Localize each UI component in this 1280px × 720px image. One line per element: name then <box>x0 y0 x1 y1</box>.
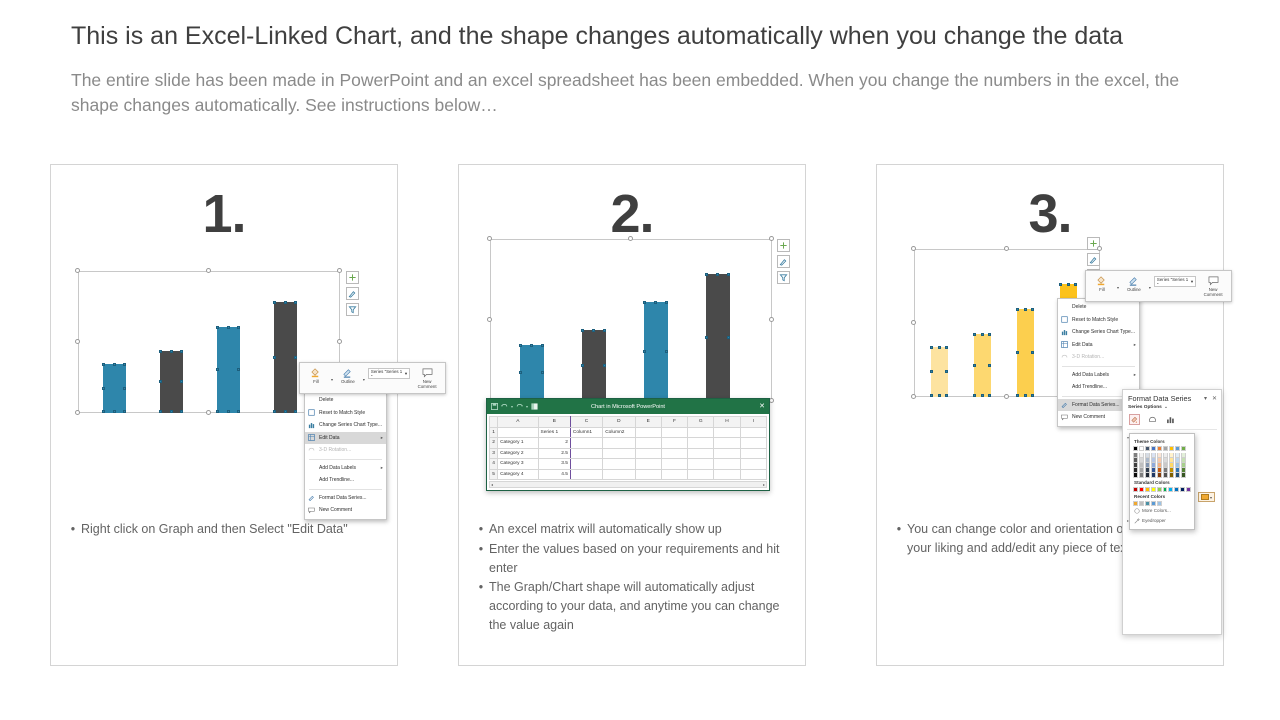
select-all-corner[interactable] <box>490 417 498 428</box>
chart-styles-icon[interactable] <box>777 255 790 268</box>
resize-handle[interactable] <box>206 268 211 273</box>
standard-color-swatch[interactable] <box>1180 487 1185 492</box>
table-row[interactable]: 1Series 1Column1Column2 <box>490 427 767 438</box>
bar-handle[interactable] <box>988 333 991 336</box>
bar-handle[interactable] <box>216 410 219 413</box>
bar-handle[interactable] <box>665 301 668 304</box>
bar-handle[interactable] <box>581 329 584 332</box>
cell-G5[interactable] <box>688 469 714 480</box>
cell-C2[interactable] <box>570 438 602 449</box>
bar-handle[interactable] <box>1067 283 1070 286</box>
resize-handle[interactable] <box>75 339 80 344</box>
bar-handle[interactable] <box>988 364 991 367</box>
series-options-dropdown[interactable]: Series Options ⌄ <box>1123 405 1221 412</box>
table-row[interactable]: 2Category 12 <box>490 438 767 449</box>
undo-icon[interactable] <box>501 403 508 410</box>
column-header-D[interactable]: D <box>603 417 635 428</box>
theme-color-column-2[interactable] <box>1139 446 1144 478</box>
bar-handle[interactable] <box>981 333 984 336</box>
bar-2[interactable] <box>582 330 606 401</box>
resize-handle[interactable] <box>487 236 492 241</box>
save-icon[interactable] <box>491 403 498 410</box>
outline-chevron-icon[interactable]: ▾ <box>363 377 365 382</box>
cell-H2[interactable] <box>714 438 740 449</box>
bar-handle[interactable] <box>603 329 606 332</box>
cell-B2[interactable]: 2 <box>538 438 570 449</box>
standard-color-swatch[interactable] <box>1133 487 1138 492</box>
resize-handle[interactable] <box>769 317 774 322</box>
standard-color-swatch[interactable] <box>1168 487 1173 492</box>
menu-item-new-comment[interactable]: New Comment <box>305 504 386 517</box>
menu-item-add-trendline[interactable]: Add Trendline... <box>305 474 386 487</box>
resize-handle[interactable] <box>75 268 80 273</box>
resize-handle[interactable] <box>206 410 211 415</box>
bar-handle[interactable] <box>938 346 941 349</box>
cell-H3[interactable] <box>714 448 740 459</box>
recent-color-swatch[interactable] <box>1133 501 1138 506</box>
close-icon[interactable]: ✕ <box>1212 395 1217 402</box>
format-pane-title: Format Data Series <box>1128 394 1191 403</box>
column-header-H[interactable]: H <box>714 417 740 428</box>
cell-I1[interactable] <box>740 427 766 438</box>
theme-color-swatch[interactable] <box>1151 446 1156 451</box>
cell-B5[interactable]: 4.5 <box>538 469 570 480</box>
bar-handle[interactable] <box>170 350 173 353</box>
bar-handle[interactable] <box>227 326 230 329</box>
fill-and-line-icon[interactable] <box>1129 414 1140 425</box>
undo-caret-icon[interactable]: ▾ <box>511 404 513 409</box>
cell-B3[interactable]: 2.5 <box>538 448 570 459</box>
cell-F1[interactable] <box>661 427 687 438</box>
pin-icon[interactable]: ▾ <box>1204 395 1207 402</box>
bar-handle[interactable] <box>519 344 522 347</box>
bar-handle[interactable] <box>665 350 668 353</box>
bar-handle[interactable] <box>727 336 730 339</box>
standard-colors-row[interactable] <box>1133 487 1191 492</box>
resize-handle[interactable] <box>337 268 342 273</box>
bar-handle[interactable] <box>530 344 533 347</box>
theme-shade-swatch[interactable] <box>1163 473 1168 478</box>
cell-H1[interactable] <box>714 427 740 438</box>
chevron-down-icon[interactable]: ▾ <box>405 371 407 377</box>
column-header-B[interactable]: B <box>538 417 570 428</box>
bar-handle[interactable] <box>123 363 126 366</box>
new-comment-button[interactable]: New Comment <box>1199 274 1227 298</box>
scroll-left-icon[interactable]: ◂ <box>491 482 493 487</box>
cell-A3[interactable]: Category 2 <box>498 448 538 459</box>
new-comment-button[interactable]: New Comment <box>413 366 441 390</box>
series-selector-combo[interactable]: Series "Series 1 " ▾ <box>368 368 410 379</box>
cell-D2[interactable] <box>603 438 635 449</box>
fill-button[interactable]: Fill <box>1090 274 1114 292</box>
close-icon[interactable]: ✕ <box>759 403 765 410</box>
bar-handle[interactable] <box>123 410 126 413</box>
cell-A1[interactable] <box>498 427 538 438</box>
bar-handle[interactable] <box>603 364 606 367</box>
bar-handle[interactable] <box>643 301 646 304</box>
resize-handle[interactable] <box>1097 246 1102 251</box>
cell-B4[interactable]: 3.5 <box>538 459 570 470</box>
menu-item-change-series-chart-type[interactable]: Change Series Chart Type... <box>305 419 386 432</box>
cell-I5[interactable] <box>740 469 766 480</box>
cell-I4[interactable] <box>740 459 766 470</box>
bar-handle[interactable] <box>592 329 595 332</box>
bar-handle[interactable] <box>180 410 183 413</box>
resize-handle[interactable] <box>487 317 492 322</box>
column-header-F[interactable]: F <box>661 417 687 428</box>
bar-handle[interactable] <box>973 394 976 397</box>
theme-color-column-3[interactable] <box>1145 446 1150 478</box>
chart-side-buttons-1[interactable] <box>346 271 359 316</box>
bar-handle[interactable] <box>643 350 646 353</box>
menu-item-delete[interactable]: Delete <box>1058 301 1139 314</box>
theme-color-swatch[interactable] <box>1133 446 1138 451</box>
table-row[interactable]: 4Category 33.5 <box>490 459 767 470</box>
outline-chevron-icon[interactable]: ▾ <box>1149 285 1151 290</box>
context-menu-1[interactable]: Delete Reset to Match Style Change Serie… <box>304 391 387 520</box>
bar-handle[interactable] <box>237 368 240 371</box>
excel-quick-access-toolbar[interactable]: ▾ ▾ <box>491 403 538 410</box>
menu-item-reset-to-match-style[interactable]: Reset to Match Style <box>305 407 386 420</box>
menu-item-3-d-rotation: 3-D Rotation... <box>1058 351 1139 364</box>
bar-handle[interactable] <box>113 363 116 366</box>
table-row[interactable]: 3Category 22.5 <box>490 448 767 459</box>
chart-elements-icon[interactable] <box>777 239 790 252</box>
step-panel-2: 2. ▾ ▾ <box>458 164 806 666</box>
color-picker-button[interactable]: ▾ <box>1198 492 1215 502</box>
menu-separator <box>309 489 382 490</box>
format-pane-tabs[interactable] <box>1123 412 1221 429</box>
row-header-5[interactable]: 5 <box>490 469 498 480</box>
bar-handle[interactable] <box>705 273 708 276</box>
bar-3[interactable] <box>1017 309 1034 397</box>
bar-handle[interactable] <box>159 380 162 383</box>
chart-selection-2[interactable] <box>490 239 772 401</box>
bar-handle[interactable] <box>113 410 116 413</box>
bar-1[interactable] <box>931 347 948 397</box>
cell-A2[interactable]: Category 1 <box>498 438 538 449</box>
column-header-G[interactable]: G <box>688 417 714 428</box>
bar-handle[interactable] <box>237 326 240 329</box>
more-colors-item[interactable]: More Colors... <box>1133 506 1191 516</box>
cell-D4[interactable] <box>603 459 635 470</box>
theme-color-swatch[interactable] <box>1139 446 1144 451</box>
bar-handle[interactable] <box>284 410 287 413</box>
theme-shade-swatch[interactable] <box>1139 473 1144 478</box>
theme-color-swatch[interactable] <box>1181 446 1186 451</box>
excel-title-bar[interactable]: ▾ ▾ Chart in Microsoft PowerPoint ✕ <box>487 399 769 414</box>
resize-handle[interactable] <box>75 410 80 415</box>
edit-data-icon <box>1061 341 1072 348</box>
bar-handle[interactable] <box>973 364 976 367</box>
theme-shade-swatch[interactable] <box>1181 473 1186 478</box>
column-header-A[interactable]: A <box>498 417 538 428</box>
excel-app-icon[interactable] <box>531 403 538 410</box>
menu-item-format-data-series[interactable]: Format Data Series... <box>305 492 386 505</box>
eyedropper-item[interactable]: Eyedropper <box>1133 516 1191 526</box>
cell-G3[interactable] <box>688 448 714 459</box>
fill-bucket-icon <box>310 366 321 379</box>
bar-handle[interactable] <box>294 301 297 304</box>
theme-shade-swatch[interactable] <box>1145 473 1150 478</box>
bar-handle[interactable] <box>294 356 297 359</box>
redo-icon[interactable] <box>516 403 523 410</box>
resize-handle[interactable] <box>337 339 342 344</box>
menu-item-add-data-labels[interactable]: Add Data Labels ▸ <box>305 462 386 475</box>
theme-color-column-1[interactable] <box>1133 446 1138 478</box>
scroll-right-icon[interactable]: ▸ <box>763 482 765 487</box>
cell-C4[interactable] <box>570 459 602 470</box>
bar-handle[interactable] <box>654 301 657 304</box>
cell-E2[interactable] <box>635 438 661 449</box>
fill-button[interactable]: Fill <box>304 366 328 384</box>
theme-color-swatch[interactable] <box>1175 446 1180 451</box>
bar-2[interactable] <box>160 351 183 413</box>
mini-toolbar-3[interactable]: Fill ▾ Outline ▾ Series "Series 1 " ▾ Ne… <box>1085 270 1232 302</box>
row-header-3[interactable]: 3 <box>490 448 498 459</box>
resize-handle[interactable] <box>911 394 916 399</box>
bar-handle[interactable] <box>273 410 276 413</box>
standard-color-swatch[interactable] <box>1157 487 1162 492</box>
excel-rows[interactable]: 1Series 1Column1Column22Category 123Cate… <box>490 427 767 480</box>
cell-F2[interactable] <box>661 438 687 449</box>
mini-toolbar-1[interactable]: Fill ▾ Outline ▾ Series "Series 1 " ▾ Ne… <box>299 362 446 394</box>
resize-handle[interactable] <box>911 320 916 325</box>
excel-horizontal-scrollbar[interactable]: ◂ ▸ <box>489 481 767 488</box>
outline-button[interactable]: Outline <box>336 366 360 384</box>
cell-A5[interactable]: Category 4 <box>498 469 538 480</box>
bar-handle[interactable] <box>102 387 105 390</box>
cell-E3[interactable] <box>635 448 661 459</box>
cell-B1[interactable]: Series 1 <box>538 427 570 438</box>
cell-F5[interactable] <box>661 469 687 480</box>
bar-handle[interactable] <box>1059 283 1062 286</box>
standard-color-swatch[interactable] <box>1145 487 1150 492</box>
resize-handle[interactable] <box>1004 394 1009 399</box>
bar-handle[interactable] <box>102 410 105 413</box>
cell-H5[interactable] <box>714 469 740 480</box>
chevron-down-icon[interactable]: ▾ <box>1210 495 1212 500</box>
menu-item-add-data-labels[interactable]: Add Data Labels ▸ <box>1058 369 1139 382</box>
chart-elements-icon[interactable] <box>346 271 359 284</box>
bar-handle[interactable] <box>102 363 105 366</box>
bar-handle[interactable] <box>180 380 183 383</box>
bar-handle[interactable] <box>519 371 522 374</box>
cell-E4[interactable] <box>635 459 661 470</box>
recent-color-swatch[interactable] <box>1151 501 1156 506</box>
cell-I3[interactable] <box>740 448 766 459</box>
series-options-icon[interactable] <box>1165 414 1176 425</box>
series-selector-value: Series "Series 1 " <box>1157 277 1191 287</box>
row-header-4[interactable]: 4 <box>490 459 498 470</box>
bar-handle[interactable] <box>170 410 173 413</box>
bar-handle[interactable] <box>1024 394 1027 397</box>
recent-color-swatch[interactable] <box>1157 501 1162 506</box>
outline-button[interactable]: Outline <box>1122 274 1146 292</box>
cell-E5[interactable] <box>635 469 661 480</box>
bar-handle[interactable] <box>930 394 933 397</box>
resize-handle[interactable] <box>769 236 774 241</box>
bar-handle[interactable] <box>159 410 162 413</box>
cell-G2[interactable] <box>688 438 714 449</box>
bar-handle[interactable] <box>216 326 219 329</box>
bar-handle[interactable] <box>988 394 991 397</box>
bar-handle[interactable] <box>705 336 708 339</box>
cell-H4[interactable] <box>714 459 740 470</box>
theme-shade-swatch[interactable] <box>1157 473 1162 478</box>
bar-1[interactable] <box>520 345 544 401</box>
cell-D5[interactable] <box>603 469 635 480</box>
bar-handle[interactable] <box>945 370 948 373</box>
theme-color-column-4[interactable] <box>1151 446 1156 478</box>
bar-handle[interactable] <box>930 370 933 373</box>
resize-handle[interactable] <box>628 236 633 241</box>
series-selector-combo[interactable]: Series "Series 1 " ▾ <box>1154 276 1196 287</box>
bar-handle[interactable] <box>273 301 276 304</box>
theme-color-column-8[interactable] <box>1175 446 1180 478</box>
theme-color-swatch[interactable] <box>1163 446 1168 451</box>
chevron-down-icon[interactable]: ▾ <box>1191 279 1193 285</box>
cell-D3[interactable] <box>603 448 635 459</box>
bar-handle[interactable] <box>541 371 544 374</box>
chart-filters-icon[interactable] <box>346 303 359 316</box>
list-item: • Right click on Graph and then Select "… <box>65 520 387 539</box>
bar-handle[interactable] <box>981 394 984 397</box>
bar-handle[interactable] <box>938 394 941 397</box>
theme-color-column-9[interactable] <box>1181 446 1186 478</box>
bar-handle[interactable] <box>123 387 126 390</box>
menu-item-label: Format Data Series... <box>319 495 367 501</box>
bar-handle[interactable] <box>930 346 933 349</box>
effects-icon[interactable] <box>1147 414 1158 425</box>
bar-handle[interactable] <box>716 273 719 276</box>
redo-caret-icon[interactable]: ▾ <box>526 404 528 409</box>
bullet-icon: • <box>473 540 489 578</box>
bar-handle[interactable] <box>180 350 183 353</box>
recent-color-swatch[interactable] <box>1139 501 1144 506</box>
standard-color-swatch[interactable] <box>1186 487 1191 492</box>
color-picker-flyout[interactable]: Theme Colors Standard Colors Recent Colo… <box>1129 433 1195 530</box>
cell-G4[interactable] <box>688 459 714 470</box>
standard-color-swatch[interactable] <box>1174 487 1179 492</box>
theme-shade-swatch[interactable] <box>1175 473 1180 478</box>
cell-G1[interactable] <box>688 427 714 438</box>
bar-handle[interactable] <box>541 344 544 347</box>
bar-handle[interactable] <box>284 301 287 304</box>
column-header-I[interactable]: I <box>740 417 766 428</box>
cell-C1[interactable]: Column1 <box>570 427 602 438</box>
theme-color-column-5[interactable] <box>1157 446 1162 478</box>
bar-handle[interactable] <box>237 410 240 413</box>
cell-E1[interactable] <box>635 427 661 438</box>
excel-window[interactable]: ▾ ▾ Chart in Microsoft PowerPoint ✕ ABCD… <box>486 398 770 491</box>
bar-handle[interactable] <box>227 410 230 413</box>
bar-3[interactable] <box>644 302 668 401</box>
menu-item-change-series-chart-type[interactable]: Change Series Chart Type... <box>1058 326 1139 339</box>
bar-handle[interactable] <box>1016 394 1019 397</box>
bar-handle[interactable] <box>1031 351 1034 354</box>
bar-handle[interactable] <box>1031 394 1034 397</box>
standard-color-swatch[interactable] <box>1163 487 1168 492</box>
bar-handle[interactable] <box>727 273 730 276</box>
theme-color-swatch[interactable] <box>1145 446 1150 451</box>
bar-handle[interactable] <box>973 333 976 336</box>
standard-color-swatch[interactable] <box>1151 487 1156 492</box>
menu-item-label: Edit Data <box>319 435 340 441</box>
excel-grid[interactable]: ABCDEFGHI 1Series 1Column1Column22Catego… <box>489 416 767 480</box>
theme-color-column-7[interactable] <box>1169 446 1174 478</box>
chevron-down-icon[interactable]: ⌄ <box>1164 405 1168 410</box>
theme-color-column-6[interactable] <box>1163 446 1168 478</box>
cell-F4[interactable] <box>661 459 687 470</box>
theme-color-swatch[interactable] <box>1169 446 1174 451</box>
cell-C3[interactable] <box>570 448 602 459</box>
row-header-2[interactable]: 2 <box>490 438 498 449</box>
bar-handle[interactable] <box>216 368 219 371</box>
recent-color-swatch[interactable] <box>1145 501 1150 506</box>
bar-handle[interactable] <box>1024 308 1027 311</box>
outline-pen-icon <box>342 366 353 379</box>
cell-A4[interactable]: Category 3 <box>498 459 538 470</box>
bar-handle[interactable] <box>945 346 948 349</box>
resize-handle[interactable] <box>1004 246 1009 251</box>
fill-chevron-icon[interactable]: ▾ <box>1117 285 1119 290</box>
bar-2[interactable] <box>974 334 991 397</box>
theme-shade-swatch[interactable] <box>1133 473 1138 478</box>
resize-handle[interactable] <box>911 246 916 251</box>
standard-color-swatch[interactable] <box>1139 487 1144 492</box>
bar-4[interactable] <box>706 274 730 401</box>
page-subtitle: The entire slide has been made in PowerP… <box>71 68 1196 119</box>
chart-styles-icon[interactable] <box>1087 253 1100 266</box>
bar-handle[interactable] <box>273 356 276 359</box>
cell-I2[interactable] <box>740 438 766 449</box>
bar-handle[interactable] <box>581 364 584 367</box>
bar-handle[interactable] <box>1031 308 1034 311</box>
menu-item-edit-data[interactable]: Edit Data ▸ <box>1058 339 1139 352</box>
bar-handle[interactable] <box>1074 283 1077 286</box>
chart-styles-icon[interactable] <box>346 287 359 300</box>
column-header-C[interactable]: C <box>570 417 602 428</box>
bar-handle[interactable] <box>1016 351 1019 354</box>
menu-item-edit-data[interactable]: Edit Data ▸ <box>305 432 386 445</box>
table-row[interactable]: 5Category 44.5 <box>490 469 767 480</box>
theme-colors-grid[interactable] <box>1133 446 1191 478</box>
comment-icon <box>422 366 433 379</box>
bar-handle[interactable] <box>945 394 948 397</box>
theme-color-swatch[interactable] <box>1157 446 1162 451</box>
column-header-E[interactable]: E <box>635 417 661 428</box>
cell-D1[interactable]: Column2 <box>603 427 635 438</box>
bar-1[interactable] <box>103 364 126 413</box>
chart-side-buttons-2[interactable] <box>777 239 790 284</box>
chart-filters-icon[interactable] <box>777 271 790 284</box>
theme-colors-label: Theme Colors <box>1134 439 1191 444</box>
theme-shade-swatch[interactable] <box>1169 473 1174 478</box>
menu-item-reset-to-match-style[interactable]: Reset to Match Style <box>1058 314 1139 327</box>
cell-C5[interactable] <box>570 469 602 480</box>
row-header-1[interactable]: 1 <box>490 427 498 438</box>
fill-chevron-icon[interactable]: ▾ <box>331 377 333 382</box>
cell-F3[interactable] <box>661 448 687 459</box>
bar-handle[interactable] <box>159 350 162 353</box>
bar-3[interactable] <box>217 327 240 413</box>
bar-handle[interactable] <box>1016 308 1019 311</box>
menu-item-delete[interactable]: Delete <box>305 394 386 407</box>
bar-handle[interactable] <box>294 410 297 413</box>
theme-shade-swatch[interactable] <box>1151 473 1156 478</box>
bar-4[interactable] <box>274 302 297 413</box>
